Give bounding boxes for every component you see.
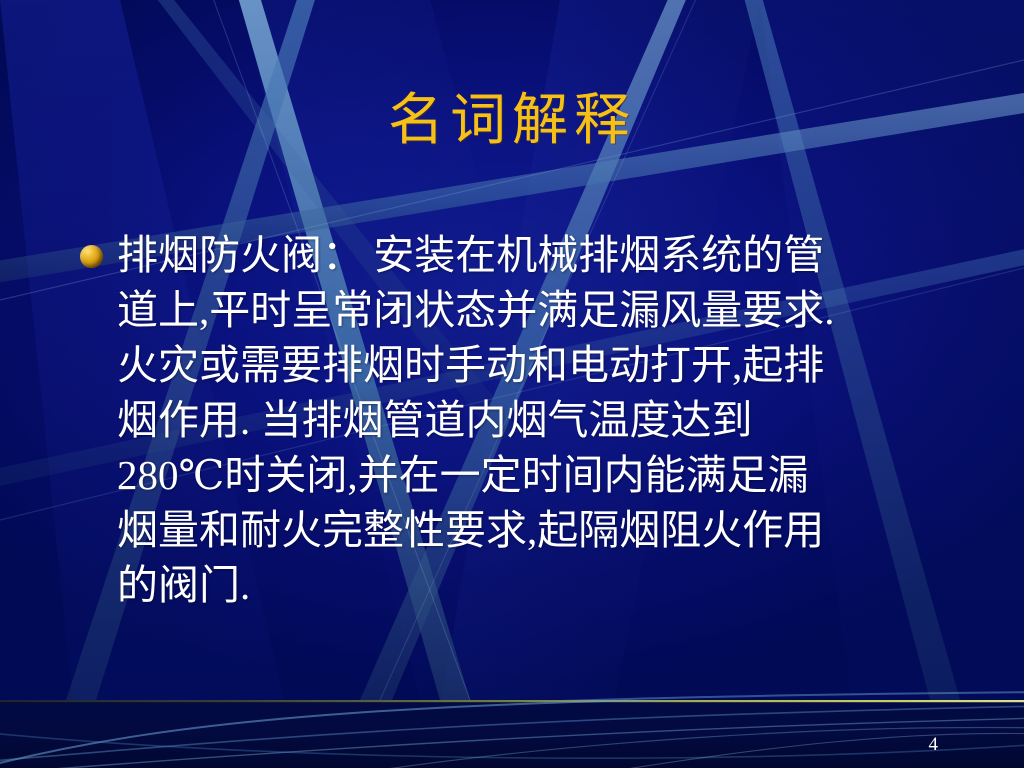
bullet-list-item: 排烟防火阀： 安装在机械排烟系统的管 道上,平时呈常闭状态并满足漏风量要求. 火… — [80, 228, 960, 613]
body-line: 道上,平时呈常闭状态并满足漏风量要求. — [117, 283, 960, 338]
body-line: 的阀门. — [117, 558, 960, 613]
slide-body: 排烟防火阀： 安装在机械排烟系统的管 道上,平时呈常闭状态并满足漏风量要求. 火… — [80, 228, 960, 613]
footer-band — [0, 700, 1024, 768]
body-line: 火灾或需要排烟时手动和电动打开,起排 — [117, 338, 960, 393]
body-line: 烟作用. 当排烟管道内烟气温度达到 — [117, 393, 960, 448]
gold-sphere-bullet-icon — [80, 245, 103, 268]
body-line: 排烟防火阀： 安装在机械排烟系统的管 — [117, 228, 960, 283]
slide-title: 名词解释 — [0, 92, 1024, 151]
presentation-slide: 名词解释 排烟防火阀： 安装在机械排烟系统的管 道上,平时呈常闭状态并满足漏风量… — [0, 0, 1024, 768]
footer-swoosh-pattern — [0, 700, 1024, 768]
bullet-text-block: 排烟防火阀： 安装在机械排烟系统的管 道上,平时呈常闭状态并满足漏风量要求. 火… — [117, 228, 960, 613]
body-line: 烟量和耐火完整性要求,起隔烟阻火作用 — [117, 503, 960, 558]
page-number: 4 — [929, 734, 939, 756]
body-line: 280℃时关闭,并在一定时间内能满足漏 — [117, 448, 960, 503]
